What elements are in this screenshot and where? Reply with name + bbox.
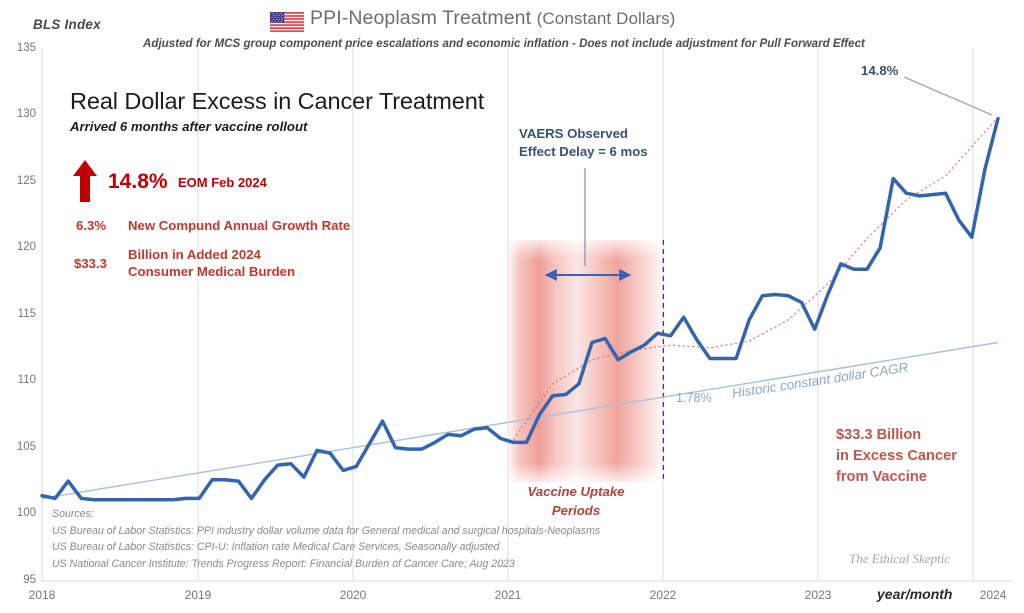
excess-callout-line3: from Vaccine [836, 467, 957, 488]
new-cagr-label: New Compund Annual Growth Rate [128, 218, 350, 233]
burden-value: $33.3 [74, 256, 107, 271]
sources-line-1: US Bureau of Labor Statistics: PPI indus… [52, 523, 600, 540]
y-tick-125: 125 [8, 175, 36, 187]
vaers-delay-annotation: VAERS Observed Effect Delay = 6 mos [519, 125, 648, 161]
excess-callout-line1: $33.3 Billion [836, 425, 957, 446]
y-tick-95: 95 [8, 574, 36, 586]
x-axis-name: year/month [877, 586, 952, 602]
y-tick-120: 120 [8, 241, 36, 253]
headline-block: Real Dollar Excess in Cancer Treatment A… [70, 88, 484, 134]
sources-line-3: US National Cancer Institute: Trends Pro… [52, 556, 600, 573]
excess-callout-line2: in Excess Cancer [836, 446, 957, 467]
historic-cagr-percent: 1.78% [676, 391, 712, 405]
excess-percent-value: 14.8% [108, 170, 168, 194]
endpoint-leader-line [904, 77, 992, 115]
chart-canvas: 135 130 125 120 115 110 105 100 95 2018 … [0, 0, 1024, 613]
excess-percent-note: EOM Feb 2024 [178, 175, 267, 190]
uptake-label-line1: Vaccine Uptake [521, 482, 631, 501]
x-tick-2020: 2020 [323, 588, 383, 602]
x-tick-2019: 2019 [168, 588, 228, 602]
endpoint-percent-label: 14.8% [861, 63, 898, 78]
burden-label-line1: Billion in Added 2024 [128, 246, 295, 263]
y-tick-130: 130 [8, 108, 36, 120]
page-title-main: PPI-Neoplasm Treatment [310, 7, 531, 29]
y-tick-115: 115 [8, 308, 36, 320]
vaers-note-line2: Effect Delay = 6 mos [519, 143, 648, 161]
x-tick-2022: 2022 [633, 588, 693, 602]
excess-cancer-callout: $33.3 Billion in Excess Cancer from Vacc… [836, 425, 957, 488]
page-title-paren: (Constant Dollars) [537, 9, 676, 28]
y-tick-135: 135 [8, 42, 36, 54]
page-title: PPI-Neoplasm Treatment (Constant Dollars… [268, 7, 675, 30]
y-tick-105: 105 [8, 441, 36, 453]
new-cagr-value: 6.3% [76, 218, 106, 233]
x-tick-2024: 2024 [963, 588, 1023, 602]
page-subtitle: Adjusted for MCS group component price e… [143, 37, 865, 50]
x-tick-2023: 2023 [788, 588, 848, 602]
sources-heading: Sources: [52, 506, 600, 523]
sources-line-2: US Bureau of Labor Statistics: CPI-U: In… [52, 539, 600, 556]
headline-subtitle: Arrived 6 months after vaccine rollout [70, 119, 484, 134]
burden-label: Billion in Added 2024 Consumer Medical B… [128, 246, 295, 280]
sources-block: Sources: US Bureau of Labor Statistics: … [52, 506, 600, 572]
y-tick-100: 100 [8, 507, 36, 519]
up-arrow-icon [72, 160, 98, 202]
y-axis-name: BLS Index [33, 17, 101, 32]
x-tick-2018: 2018 [12, 588, 72, 602]
x-tick-2021: 2021 [478, 588, 538, 602]
burden-label-line2: Consumer Medical Burden [128, 263, 295, 280]
y-tick-110: 110 [8, 374, 36, 386]
signature-watermark: The Ethical Skeptic [849, 551, 950, 567]
vaers-note-line1: VAERS Observed [519, 125, 648, 143]
headline-title: Real Dollar Excess in Cancer Treatment [70, 88, 484, 115]
